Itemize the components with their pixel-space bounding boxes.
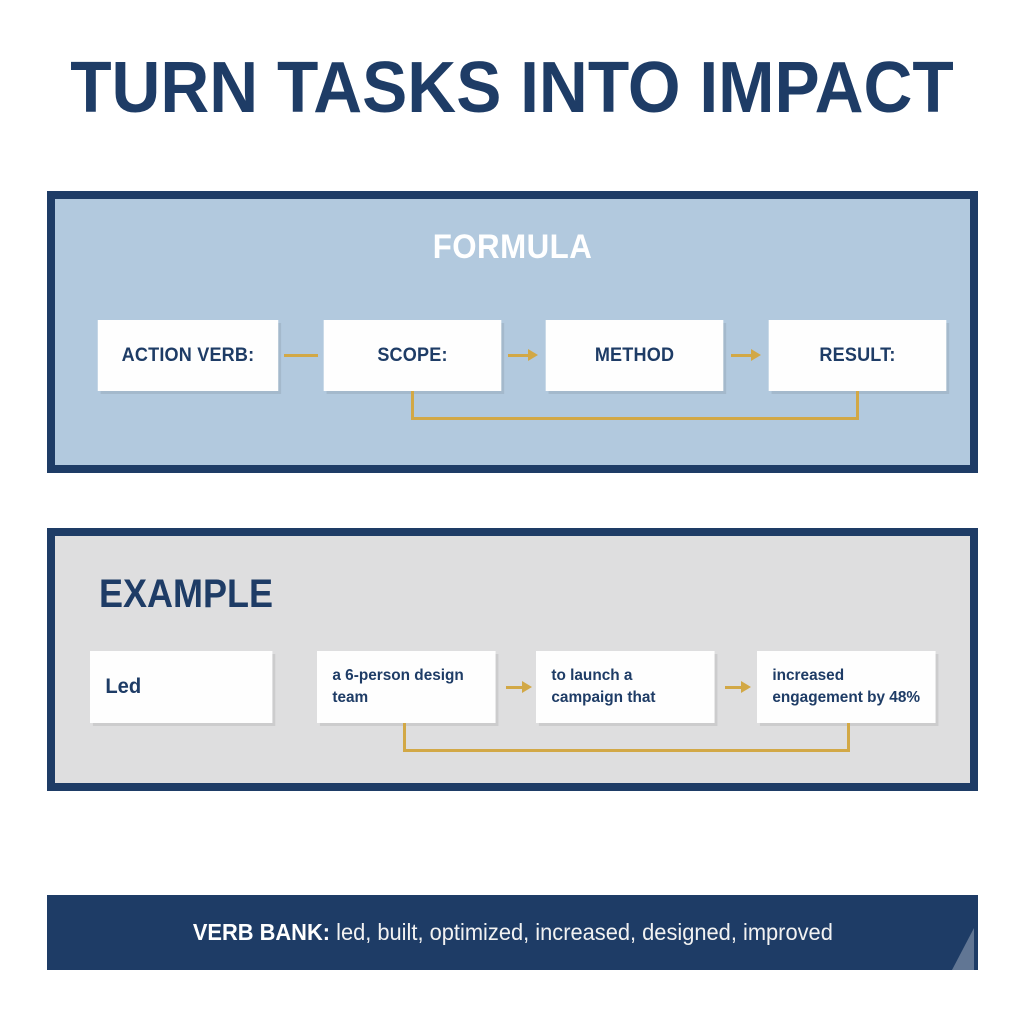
example-step-result[interactable]: increased engagement by 48%: [757, 651, 936, 723]
example-feedback-bracket: [403, 723, 850, 752]
example-step-label: to launch a campaign that: [551, 665, 699, 708]
example-step-label: a 6-person design team: [332, 665, 480, 708]
example-panel: EXAMPLE Led a 6-person design team to la…: [47, 528, 978, 791]
formula-panel-heading: FORMULA: [92, 228, 934, 267]
formula-feedback-bracket: [411, 391, 859, 420]
formula-step-method[interactable]: METHOD: [546, 320, 724, 391]
verb-bank-bar: VERB BANK: led, built, optimized, increa…: [47, 895, 978, 970]
formula-step-label: RESULT:: [819, 345, 895, 367]
example-step-action-verb[interactable]: Led: [90, 651, 272, 723]
formula-step-result[interactable]: RESULT:: [769, 320, 947, 391]
formula-step-scope[interactable]: SCOPE:: [324, 320, 502, 391]
formula-connector-line-3: [731, 354, 753, 357]
formula-step-label: METHOD: [595, 345, 674, 367]
formula-arrow-icon-3: [751, 349, 761, 361]
corner-watermark-icon: [952, 928, 974, 970]
page-title: TURN TASKS INTO IMPACT: [31, 52, 994, 124]
formula-step-label: ACTION VERB:: [122, 345, 255, 367]
verb-bank-text: VERB BANK: led, built, optimized, increa…: [192, 919, 832, 946]
example-step-scope[interactable]: a 6-person design team: [317, 651, 496, 723]
formula-connector-line-1: [284, 354, 318, 357]
formula-panel: FORMULA ACTION VERB: SCOPE: METHOD RESUL…: [47, 191, 978, 473]
example-arrow-icon-2: [522, 681, 532, 693]
example-step-label: Led: [105, 673, 141, 701]
formula-connector-line-2: [508, 354, 530, 357]
formula-step-label: SCOPE:: [377, 345, 447, 367]
example-step-method[interactable]: to launch a campaign that: [536, 651, 715, 723]
example-step-label: increased engagement by 48%: [772, 665, 920, 708]
example-arrow-icon-3: [741, 681, 751, 693]
verb-bank-label: VERB BANK:: [192, 919, 329, 945]
formula-step-action-verb[interactable]: ACTION VERB:: [98, 320, 279, 391]
verb-bank-verbs: led, built, optimized, increased, design…: [330, 919, 833, 945]
example-panel-heading: EXAMPLE: [99, 572, 273, 617]
formula-arrow-icon-2: [528, 349, 538, 361]
